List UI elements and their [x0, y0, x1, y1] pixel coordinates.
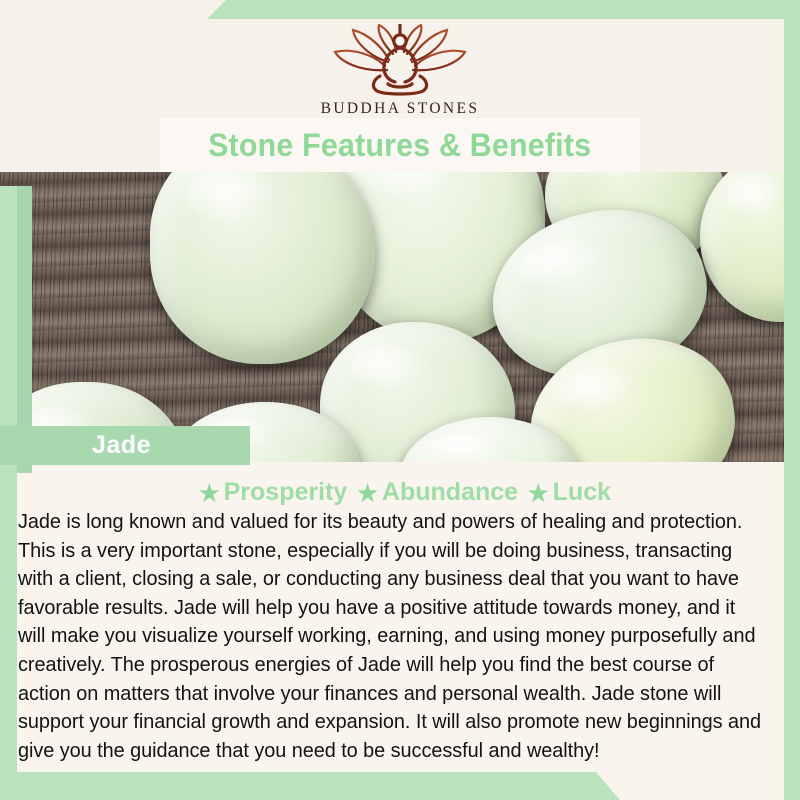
stone-photo [0, 172, 800, 462]
keyword-list: ★Prosperity★Abundance★Luck [0, 478, 800, 507]
stone-name-badge: Jade [0, 426, 250, 465]
page-title: Stone Features & Benefits [208, 127, 591, 164]
keyword-luck: Luck [553, 478, 611, 507]
title-banner: Stone Features & Benefits [160, 118, 640, 172]
description-text: Jade is long known and valued for its be… [18, 508, 765, 765]
brand-name: BUDDHA STONES [0, 100, 800, 118]
keyword-abundance: Abundance [382, 478, 518, 507]
brand-logo: BUDDHA STONES [0, 24, 800, 118]
right-accent-edge [784, 0, 800, 800]
lotus-meditation-icon [325, 24, 475, 96]
description-section: ★Prosperity★Abundance★Luck Jade is long … [0, 462, 800, 800]
star-icon: ★ [199, 480, 220, 507]
poster-root: BUDDHA STONES Stone Features & Benefits … [0, 0, 800, 800]
stone-name-label: Jade [92, 431, 151, 460]
left-accent-edge [0, 186, 17, 800]
star-icon: ★ [528, 480, 549, 507]
keyword-prosperity: Prosperity [224, 478, 348, 507]
star-icon: ★ [357, 480, 378, 507]
